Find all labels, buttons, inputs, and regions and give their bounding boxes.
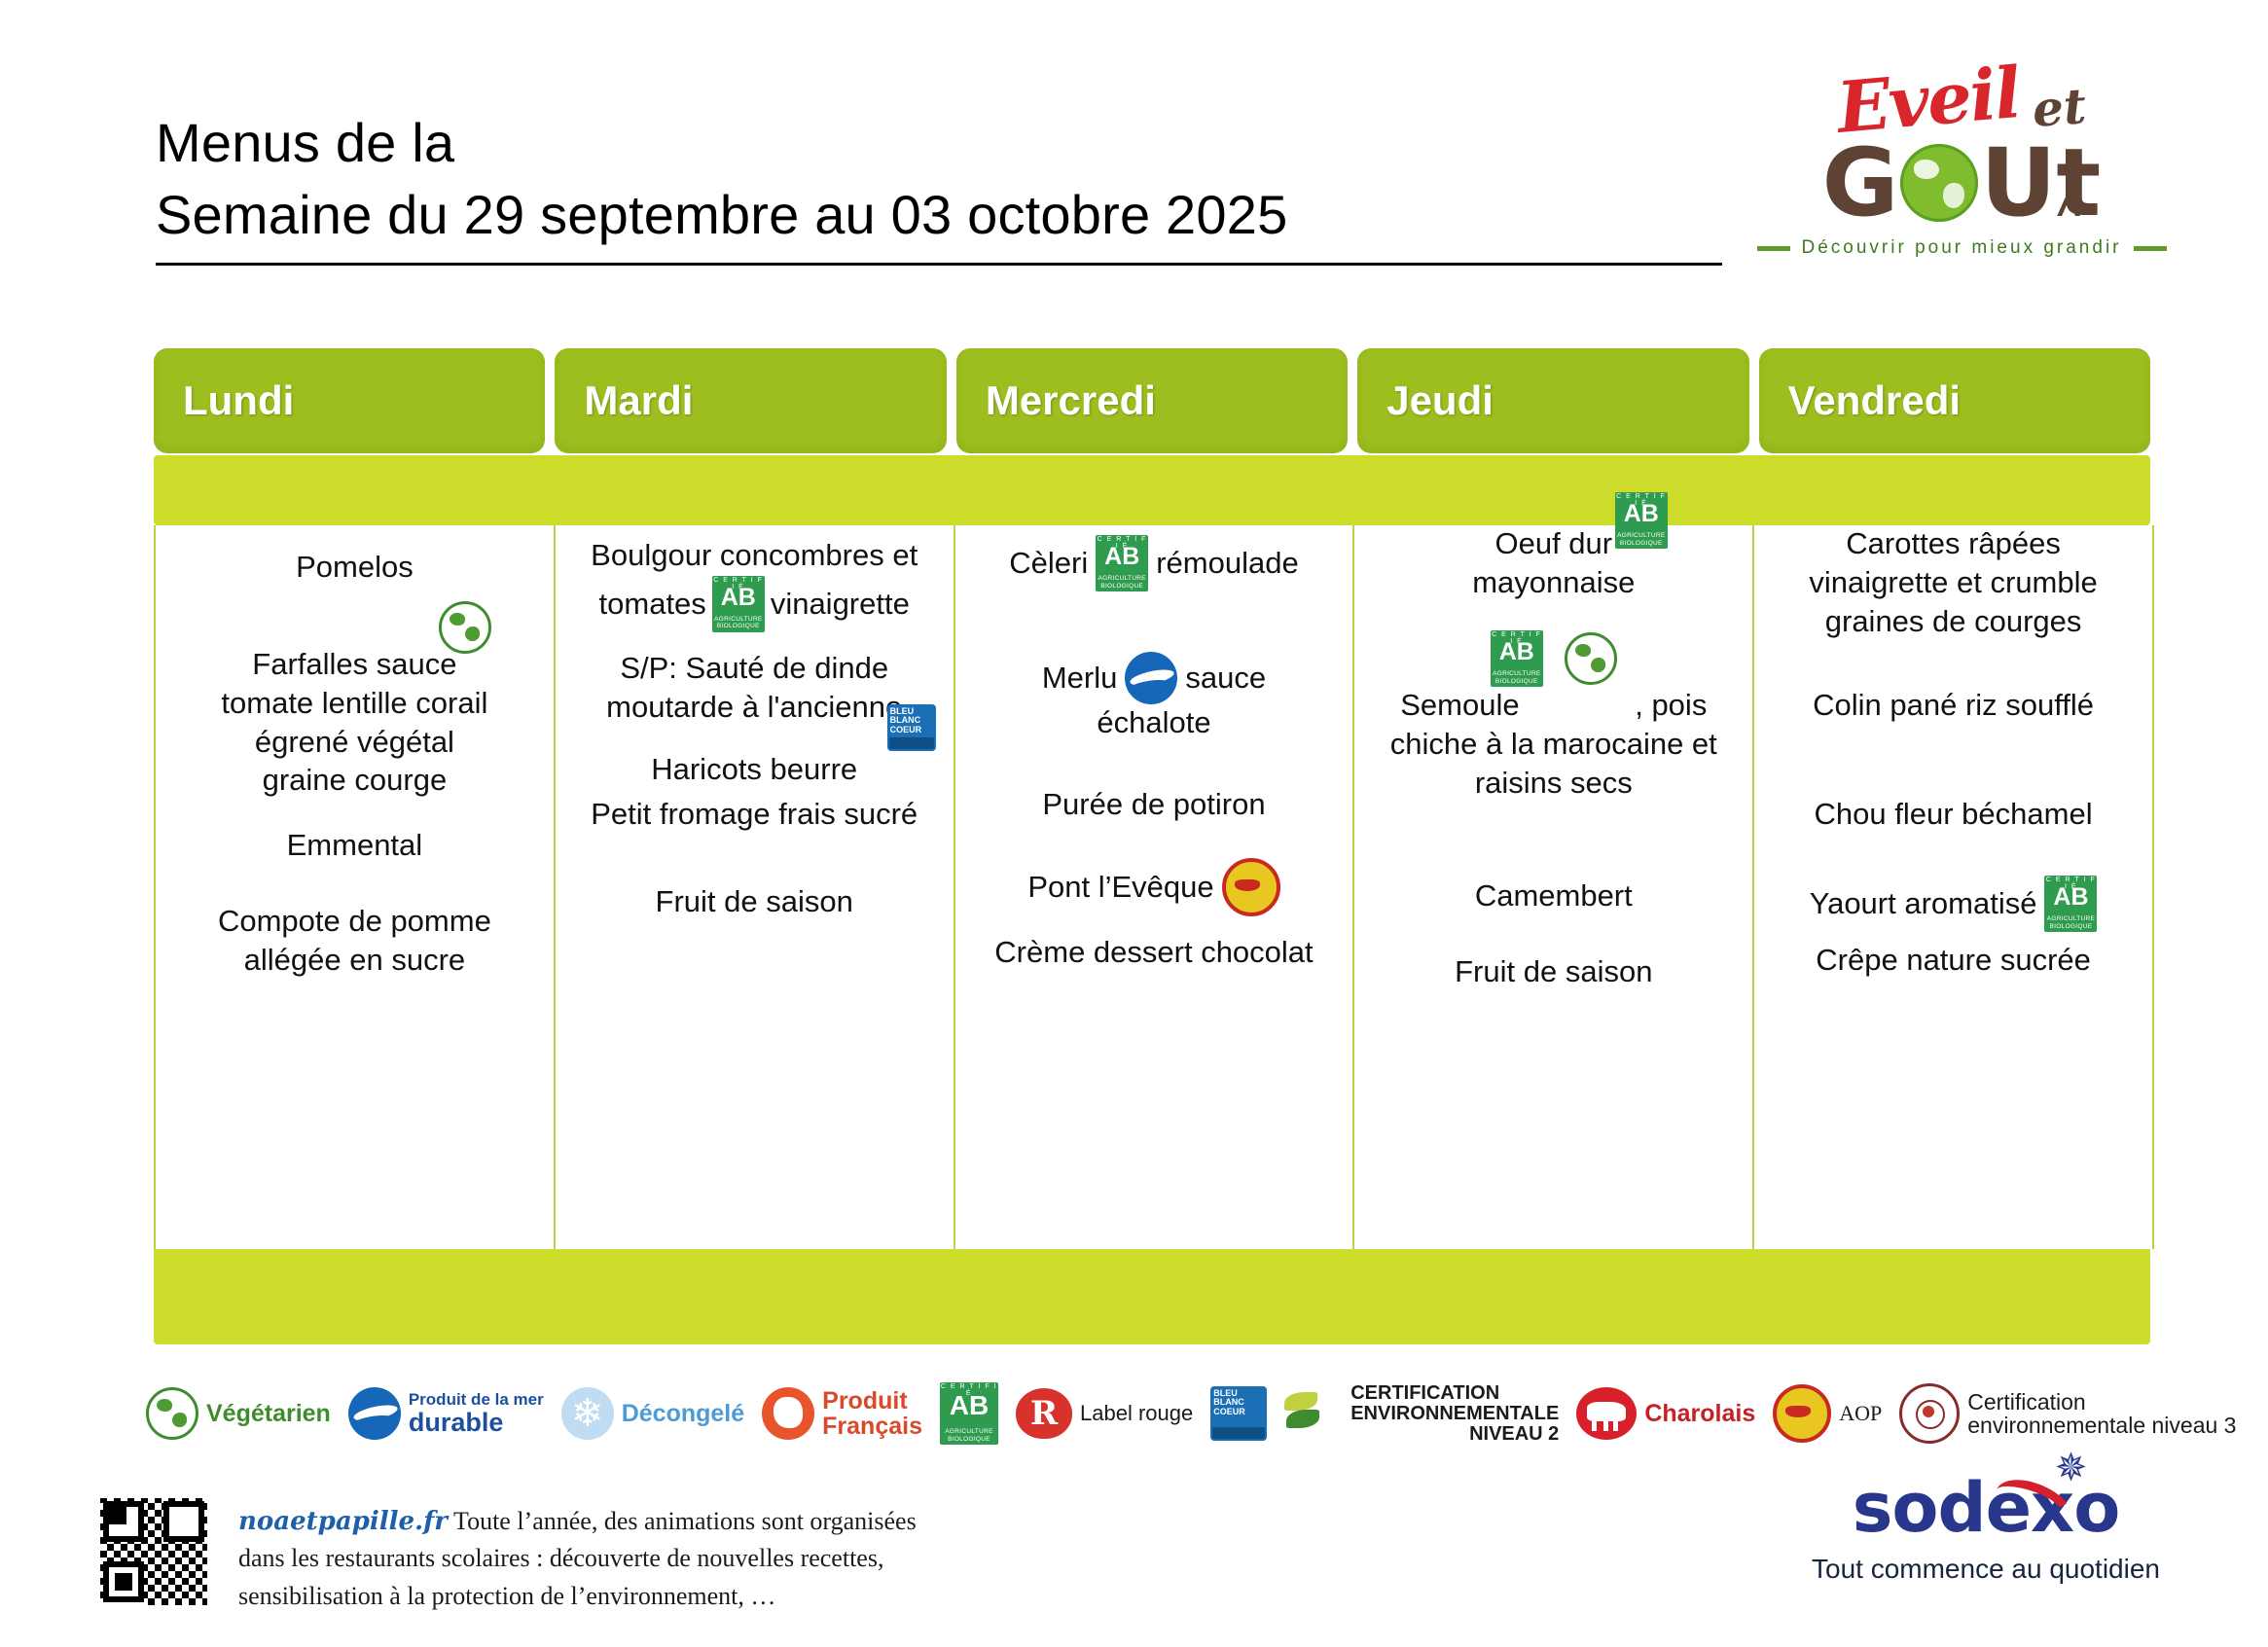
dish-text: Pont l’Evêque — [1027, 869, 1213, 906]
dish-entree: Boulgour concombres et tomates C E R T I… — [569, 537, 940, 632]
brand-logo-top-row: Eveil et — [1752, 58, 2171, 144]
legend-label: Décongelé — [622, 1401, 744, 1426]
dish-fromage: Pont l’Evêque — [969, 858, 1340, 916]
dish-text: Carottes râpées — [1846, 525, 2061, 562]
bbc-label: BLEUBLANCCOEUR — [1213, 1389, 1264, 1416]
legend-label-line-3: NIVEAU 2 — [1350, 1424, 1559, 1445]
website-link[interactable]: noaetpapille.fr — [238, 1507, 448, 1536]
dish-text: Semoule — [1400, 688, 1519, 722]
footer-text-line-3: sensibilisation à la protection de l’env… — [238, 1582, 775, 1610]
legend-item-charolais: Charolais — [1576, 1387, 1755, 1440]
menu-page: Menus de la Semaine du 29 septembre au 0… — [0, 0, 2268, 1647]
brand-letter-g: G — [1822, 136, 1899, 230]
snowflake-icon: ❄ — [561, 1387, 614, 1440]
legend-label-line-1: CERTIFICATION — [1350, 1383, 1559, 1404]
dish-text: vinaigrette — [771, 586, 910, 623]
day-header-row: Lundi Mardi Mercredi Jeudi Vendredi — [154, 348, 2150, 453]
decorative-band-top — [154, 455, 2150, 525]
day-label: Mercredi — [986, 377, 1156, 424]
produit-mer-durable-icon — [1125, 652, 1177, 704]
agriculture-biologique-icon: C E R T I F I É AB AGRICULTUREBIOLOGIQUE — [712, 576, 765, 632]
sodexo-star-icon: ✵ — [2055, 1449, 2087, 1487]
legend-item-aop: AOP — [1773, 1384, 1882, 1443]
dish-text: chiche à la marocaine et — [1390, 726, 1717, 763]
sodexo-wordmark: sodexo ✵ — [1853, 1474, 2120, 1542]
dish-text: Farfalles sauce — [252, 646, 456, 683]
dish-text: Cèleri — [1009, 545, 1088, 582]
dish-dessert: Fruit de saison — [1368, 953, 1739, 990]
ab-subtitle: AGRICULTUREBIOLOGIQUE — [940, 1428, 998, 1443]
dish-text: Crème dessert chocolat — [994, 934, 1313, 971]
ab-letters: AB — [940, 1392, 998, 1419]
vegetarien-icon — [146, 1387, 198, 1440]
day-header-mardi[interactable]: Mardi — [555, 348, 946, 453]
legend-item-produit-mer-durable: Produit de la mer durable — [348, 1387, 544, 1440]
legend-row: Végétarien Produit de la mer durable ❄ D… — [146, 1360, 2160, 1467]
dish-text: Purée de potiron — [1042, 786, 1265, 823]
legend-item-produit-francais: Produit Français — [762, 1387, 922, 1440]
aop-icon — [1222, 858, 1280, 916]
page-title-line-2: Semaine du 29 septembre au 03 octobre 20… — [156, 179, 1712, 251]
dish-text: sauce — [1185, 660, 1266, 697]
dish-text: égrené végétal — [255, 724, 454, 761]
dish-text: graine courge — [263, 762, 448, 799]
day-header-lundi[interactable]: Lundi — [154, 348, 545, 453]
dish-text: Emmental — [287, 827, 423, 864]
menu-column-vendredi: Carottes râpées vinaigrette et crumble g… — [1754, 525, 2152, 1249]
ab-letters: AB — [1096, 545, 1148, 569]
sodexo-logo: sodexo ✵ Tout commence au quotidien — [1791, 1474, 2180, 1585]
legend-label-line-2: ENVIRONNEMENTALE — [1350, 1404, 1559, 1424]
dish-text: échalote — [1097, 705, 1210, 739]
vegetarien-icon — [1565, 632, 1617, 685]
dish-dessert: Compote de pomme allégée en sucre — [169, 903, 540, 979]
footer-text-line-2: dans les restaurants scolaires : découve… — [238, 1544, 883, 1572]
dish-garniture: Purée de potiron — [969, 786, 1340, 823]
dish-text: mayonnaise — [1472, 564, 1635, 601]
title-underline — [156, 263, 1722, 266]
legend-label-group: Certification environnementale niveau 3 — [1967, 1390, 2236, 1437]
agriculture-biologique-icon: C E R T I F I É AB AGRICULTUREBIOLOGIQUE — [940, 1382, 998, 1445]
qr-finder-top-left — [109, 1507, 126, 1524]
legend-label-group: CERTIFICATION ENVIRONNEMENTALE NIVEAU 2 — [1350, 1383, 1559, 1445]
bleu-blanc-coeur-badge-row: BLEUBLANCCOEUR — [569, 704, 940, 751]
brand-logo-bottom-row: G Ut ^ — [1752, 138, 2171, 228]
dish-entree: Oeuf dur mayonnaise — [1368, 525, 1739, 601]
menu-grid: Pomelos Farfalles sauce tomate lentille … — [154, 525, 2154, 1249]
bleu-blanc-coeur-icon: BLEUBLANCCOEUR — [1210, 1386, 1267, 1441]
bbc-label: BLEUBLANCCOEUR — [890, 707, 933, 734]
dash-left-icon — [1757, 246, 1790, 251]
footer-text-line-1: Toute l’année, des animations sont organ… — [453, 1507, 917, 1535]
menu-column-jeudi: C E R T I F I É AB AGRICULTUREBIOLOGIQUE… — [1354, 525, 1754, 1249]
dish-text: Crêpe nature sucrée — [1816, 942, 2091, 979]
legend-label-group: Produit de la mer durable — [409, 1391, 544, 1436]
dish-text: Merlu — [1042, 660, 1118, 697]
badge-row-plat: C E R T I F I É AB AGRICULTUREBIOLOGIQUE — [1368, 630, 1739, 687]
legend-item-certification-environnementale-niveau-3: Certification environnementale niveau 3 — [1899, 1383, 2236, 1444]
haute-valeur-environnementale-icon — [1899, 1383, 1960, 1444]
circumflex-accent-icon: ^ — [2056, 189, 2081, 237]
dish-text: Fruit de saison — [656, 883, 853, 920]
dish-fromage: Emmental — [169, 827, 540, 864]
globe-icon — [1900, 144, 1978, 222]
dish-entree: Cèleri C E R T I F I É AB AGRICULTUREBIO… — [969, 535, 1340, 591]
dish-plat: Farfalles sauce tomate lentille corail é… — [169, 646, 540, 799]
ab-subtitle: AGRICULTUREBIOLOGIQUE — [1491, 670, 1543, 685]
dish-plat: Semoule , pois chiche à la marocaine et … — [1368, 687, 1739, 801]
dish-entree-second-line: tomates C E R T I F I É AB AGRICULTUREBI… — [569, 576, 940, 632]
dish-text: Boulgour concombres et — [591, 537, 918, 574]
brand-logo-eveil-et-gout: Eveil et G Ut ^ Découvrir pour mieux gra… — [1752, 58, 2171, 282]
dish-text: Chou fleur béchamel — [1815, 796, 2093, 833]
agriculture-biologique-icon: C E R T I F I É AB AGRICULTUREBIOLOGIQUE — [1096, 535, 1148, 591]
legend-item-decongele: ❄ Décongelé — [561, 1387, 744, 1440]
dish-text: , pois — [1635, 688, 1707, 722]
ab-letters: AB — [1615, 502, 1668, 526]
brand-letters-ut: Ut — [1980, 136, 2101, 230]
aop-icon — [1773, 1384, 1831, 1443]
day-label: Mardi — [584, 377, 693, 424]
dish-garniture: Chou fleur béchamel — [1768, 796, 2139, 833]
day-header-mercredi[interactable]: Mercredi — [956, 348, 1348, 453]
bleu-blanc-coeur-icon: BLEUBLANCCOEUR — [887, 704, 936, 751]
dish-text: Haricots beurre — [651, 751, 857, 788]
cow-icon — [1576, 1387, 1637, 1440]
dish-text: graines de courges — [1825, 603, 2082, 640]
dish-plat: Colin pané riz soufflé — [1768, 687, 2139, 724]
dish-plat-second-line: échalote — [969, 704, 1340, 741]
dish-dessert: Crème dessert chocolat — [969, 934, 1340, 971]
dish-text: Pomelos — [296, 549, 414, 586]
leaf-dark-icon — [1286, 1410, 1319, 1428]
legend-item-label-rouge: R Label rouge — [1016, 1388, 1193, 1439]
legend-label: AOP — [1839, 1402, 1882, 1424]
dish-fromage: Yaourt aromatisé C E R T I F I É AB AGRI… — [1768, 876, 2139, 932]
dish-text: Camembert — [1475, 877, 1633, 914]
legend-item-bleu-blanc-coeur: BLEUBLANCCOEUR — [1210, 1386, 1267, 1441]
qr-finder-top-right — [181, 1507, 198, 1524]
menu-column-mardi: Boulgour concombres et tomates C E R T I… — [556, 525, 955, 1249]
produit-mer-durable-icon — [348, 1387, 401, 1440]
dish-text: raisins secs — [1475, 765, 1633, 802]
ab-letters: AB — [1491, 640, 1543, 664]
ab-subtitle: AGRICULTUREBIOLOGIQUE — [2044, 915, 2097, 930]
day-label: Lundi — [183, 377, 294, 424]
dish-dessert: Fruit de saison — [569, 883, 940, 920]
legend-label-line-2: environnementale niveau 3 — [1967, 1414, 2236, 1437]
certification-environnementale-icon — [1284, 1390, 1343, 1437]
dish-dessert: Crêpe nature sucrée — [1768, 942, 2139, 979]
bbc-footer-bar — [1212, 1427, 1265, 1439]
menu-column-lundi: Pomelos Farfalles sauce tomate lentille … — [156, 525, 556, 1249]
legend-item-certification-environnementale-niveau-2: CERTIFICATION ENVIRONNEMENTALE NIVEAU 2 — [1284, 1383, 1559, 1445]
decorative-band-bottom — [154, 1247, 2150, 1344]
menu-column-mercredi: Cèleri C E R T I F I É AB AGRICULTUREBIO… — [955, 525, 1355, 1249]
agriculture-biologique-icon: C E R T I F I É AB AGRICULTUREBIOLOGIQUE — [2044, 876, 2097, 932]
legend-label-bottom: durable — [409, 1409, 544, 1436]
dish-plat-first-line: Semoule , pois — [1368, 687, 1739, 724]
bbc-footer-bar — [889, 737, 934, 749]
legend-label: Charolais — [1644, 1401, 1755, 1426]
dish-text: rémoulade — [1156, 545, 1298, 582]
dish-garniture: Haricots beurre — [569, 751, 940, 788]
dish-fromage: Petit fromage frais sucré — [569, 796, 940, 833]
ab-subtitle: AGRICULTUREBIOLOGIQUE — [1096, 575, 1148, 590]
legend-label-bottom: Français — [822, 1414, 922, 1439]
dish-text: allégée en sucre — [244, 942, 466, 979]
dish-text: tomates — [599, 586, 706, 623]
dish-text: vinaigrette et crumble — [1809, 564, 2097, 601]
leaf-light-icon — [1284, 1392, 1317, 1411]
dish-text: Compote de pomme — [218, 903, 491, 940]
legend-item-vegetarien: Végétarien — [146, 1387, 331, 1440]
legend-label: Label rouge — [1080, 1402, 1193, 1424]
legend-label-line-1: Certification — [1967, 1390, 2236, 1414]
day-header-vendredi[interactable]: Vendredi — [1759, 348, 2150, 453]
brand-tagline-row: Découvrir pour mieux grandir — [1752, 237, 2171, 259]
qr-finder-bottom-left — [103, 1561, 144, 1602]
page-header: Menus de la Semaine du 29 septembre au 0… — [156, 107, 1712, 251]
day-label: Jeudi — [1386, 377, 1494, 424]
page-title-line-1: Menus de la — [156, 107, 1712, 179]
day-header-jeudi[interactable]: Jeudi — [1357, 348, 1748, 453]
dish-text: Yaourt aromatisé — [1810, 885, 2037, 922]
agriculture-biologique-icon: C E R T I F I É AB AGRICULTUREBIOLOGIQUE — [1491, 630, 1543, 687]
dish-text: tomate lentille corail — [221, 685, 487, 722]
dish-text: Oeuf dur — [1494, 525, 1612, 562]
ab-letters: AB — [712, 586, 765, 610]
legend-item-agriculture-biologique: C E R T I F I É AB AGRICULTUREBIOLOGIQUE — [940, 1382, 998, 1445]
legend-label-top: Produit — [822, 1388, 922, 1414]
france-map-icon — [762, 1387, 814, 1440]
dish-fromage: Camembert — [1368, 877, 1739, 914]
dish-text: Colin pané riz soufflé — [1813, 687, 2094, 724]
dish-text: S/P: Sauté de dinde — [620, 650, 888, 687]
brand-tagline: Découvrir pour mieux grandir — [1802, 237, 2122, 259]
legend-label-group: Produit Français — [822, 1388, 922, 1440]
dish-plat: Merlu sauce échalote — [969, 652, 1340, 741]
dish-text: Fruit de saison — [1455, 953, 1652, 990]
qr-code-icon[interactable] — [100, 1498, 207, 1605]
dish-entree: Carottes râpées vinaigrette et crumble g… — [1768, 525, 2139, 639]
dish-entree: Pomelos — [169, 549, 540, 586]
dash-right-icon — [2134, 246, 2167, 251]
ab-letters: AB — [2044, 885, 2097, 910]
legend-label-top: Produit de la mer — [409, 1391, 544, 1409]
dish-text: Petit fromage frais sucré — [591, 796, 918, 833]
footer-text: noaetpapille.fr Toute l’année, des anima… — [238, 1503, 978, 1615]
legend-label: Végétarien — [206, 1401, 331, 1426]
ab-subtitle: AGRICULTUREBIOLOGIQUE — [712, 616, 765, 630]
sodexo-tagline: Tout commence au quotidien — [1791, 1554, 2180, 1585]
day-label: Vendredi — [1788, 377, 1961, 424]
label-rouge-icon: R — [1016, 1388, 1072, 1439]
